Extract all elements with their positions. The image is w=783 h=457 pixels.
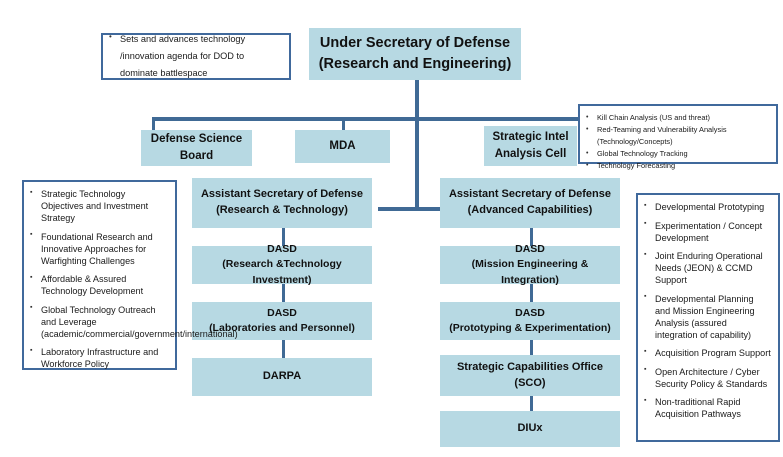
connector-trunk-main bbox=[415, 80, 419, 211]
box-label-line1: Strategic Capabilities Office bbox=[445, 360, 615, 376]
box-label-line1: DIUx bbox=[445, 421, 615, 437]
box-label-line1: Defense Science bbox=[146, 131, 247, 148]
callout-item: Developmental Prototyping bbox=[644, 201, 771, 213]
connector-stub-mda bbox=[342, 117, 345, 131]
callout-strategic-intel-list: Kill Chain Analysis (US and threat) Red-… bbox=[586, 112, 769, 172]
box-title-line2: (Research and Engineering) bbox=[314, 54, 516, 75]
callout-item: Joint Enduring Operational Needs (JEON) … bbox=[644, 250, 771, 286]
connector-staff-bar bbox=[152, 117, 603, 121]
box-label-line1: Assistant Secretary of Defense bbox=[197, 187, 367, 203]
box-strategic-intel-analysis-cell[interactable]: Strategic Intel Analysis Cell bbox=[484, 126, 577, 166]
callout-item: Experimentation / Concept Development bbox=[644, 220, 771, 244]
callout-item: Affordable & Assured Technology Developm… bbox=[30, 273, 168, 297]
box-asd-research-technology[interactable]: Assistant Secretary of Defense (Research… bbox=[192, 178, 372, 228]
callout-item: Developmental Planning and Mission Engin… bbox=[644, 293, 771, 341]
connector-sco-to-diux bbox=[530, 396, 533, 411]
box-label-line2: (Prototyping & Experimentation) bbox=[445, 321, 615, 336]
callout-item: Global Technology Tracking bbox=[586, 148, 769, 160]
box-label-line1: DASD bbox=[445, 242, 615, 257]
box-label-line1: DASD bbox=[445, 306, 615, 321]
box-dasd-research-technology-investment[interactable]: DASD (Research &Technology Investment) bbox=[192, 246, 372, 284]
callout-item: Red-Teaming and Vulnerability Analysis (… bbox=[586, 124, 769, 148]
box-label-line2: (Advanced Capabilities) bbox=[445, 203, 615, 219]
box-label-line1: DARPA bbox=[197, 369, 367, 385]
callout-item: Sets and advances technology /innovation… bbox=[109, 31, 282, 82]
callout-item: Non-traditional Rapid Acquisition Pathwa… bbox=[644, 396, 771, 420]
callout-strategic-intel-functions: Kill Chain Analysis (US and threat) Red-… bbox=[578, 104, 778, 164]
box-mda[interactable]: MDA bbox=[295, 130, 390, 163]
box-label-line1: DASD bbox=[197, 306, 367, 321]
box-label-line2: Board bbox=[146, 148, 247, 165]
connector-stub-dsb bbox=[152, 117, 155, 131]
box-asd-advanced-capabilities[interactable]: Assistant Secretary of Defense (Advanced… bbox=[440, 178, 620, 228]
box-label-line2: Analysis Cell bbox=[489, 146, 572, 163]
box-strategic-capabilities-office[interactable]: Strategic Capabilities Office (SCO) bbox=[440, 355, 620, 396]
callout-usdre-mission-list: Sets and advances technology /innovation… bbox=[109, 31, 282, 82]
box-darpa[interactable]: DARPA bbox=[192, 358, 372, 396]
box-diux[interactable]: DIUx bbox=[440, 411, 620, 447]
box-dasd-prototyping-experimentation[interactable]: DASD (Prototyping & Experimentation) bbox=[440, 302, 620, 340]
box-under-secretary-of-defense-rande[interactable]: Under Secretary of Defense (Research and… bbox=[309, 28, 521, 80]
box-defense-science-board[interactable]: Defense Science Board bbox=[141, 130, 252, 166]
callout-advanced-capabilities-functions: Developmental Prototyping Experimentatio… bbox=[636, 193, 780, 442]
connector-dasdlp-to-darpa bbox=[282, 340, 285, 358]
callout-item: Laboratory Infrastructure and Workforce … bbox=[30, 346, 168, 370]
callout-item: Global Technology Outreach and Leverage … bbox=[30, 304, 168, 340]
connector-dasdpe-to-sco bbox=[530, 340, 533, 355]
box-label-line1: Strategic Intel bbox=[489, 129, 572, 146]
org-chart-canvas: Sets and advances technology /innovation… bbox=[0, 0, 783, 457]
box-label-line2: (Research & Technology) bbox=[197, 203, 367, 219]
callout-item: Kill Chain Analysis (US and threat) bbox=[586, 112, 769, 124]
box-label-line1: Assistant Secretary of Defense bbox=[445, 187, 615, 203]
box-dasd-mission-engineering-integration[interactable]: DASD (Mission Engineering & Integration) bbox=[440, 246, 620, 284]
callout-usdre-mission: Sets and advances technology /innovation… bbox=[101, 33, 291, 80]
box-title-line1: Under Secretary of Defense bbox=[314, 33, 516, 54]
box-label-line2: (SCO) bbox=[445, 376, 615, 392]
box-label-line2: (Research &Technology Investment) bbox=[197, 257, 367, 287]
callout-item: Open Architecture / Cyber Security Polic… bbox=[644, 366, 771, 390]
callout-research-technology-functions: Strategic Technology Objectives and Inve… bbox=[22, 180, 177, 370]
callout-item: Foundational Research and Innovative App… bbox=[30, 231, 168, 267]
box-label-line2: (Mission Engineering & Integration) bbox=[445, 257, 615, 287]
callout-research-technology-list: Strategic Technology Objectives and Inve… bbox=[30, 188, 168, 370]
box-label-line1: DASD bbox=[197, 242, 367, 257]
callout-item: Strategic Technology Objectives and Inve… bbox=[30, 188, 168, 224]
callout-advanced-capabilities-list: Developmental Prototyping Experimentatio… bbox=[644, 201, 771, 420]
callout-item: Technology Forecasting bbox=[586, 160, 769, 172]
box-label-line1: MDA bbox=[300, 138, 385, 155]
callout-item: Acquisition Program Support bbox=[644, 347, 771, 359]
